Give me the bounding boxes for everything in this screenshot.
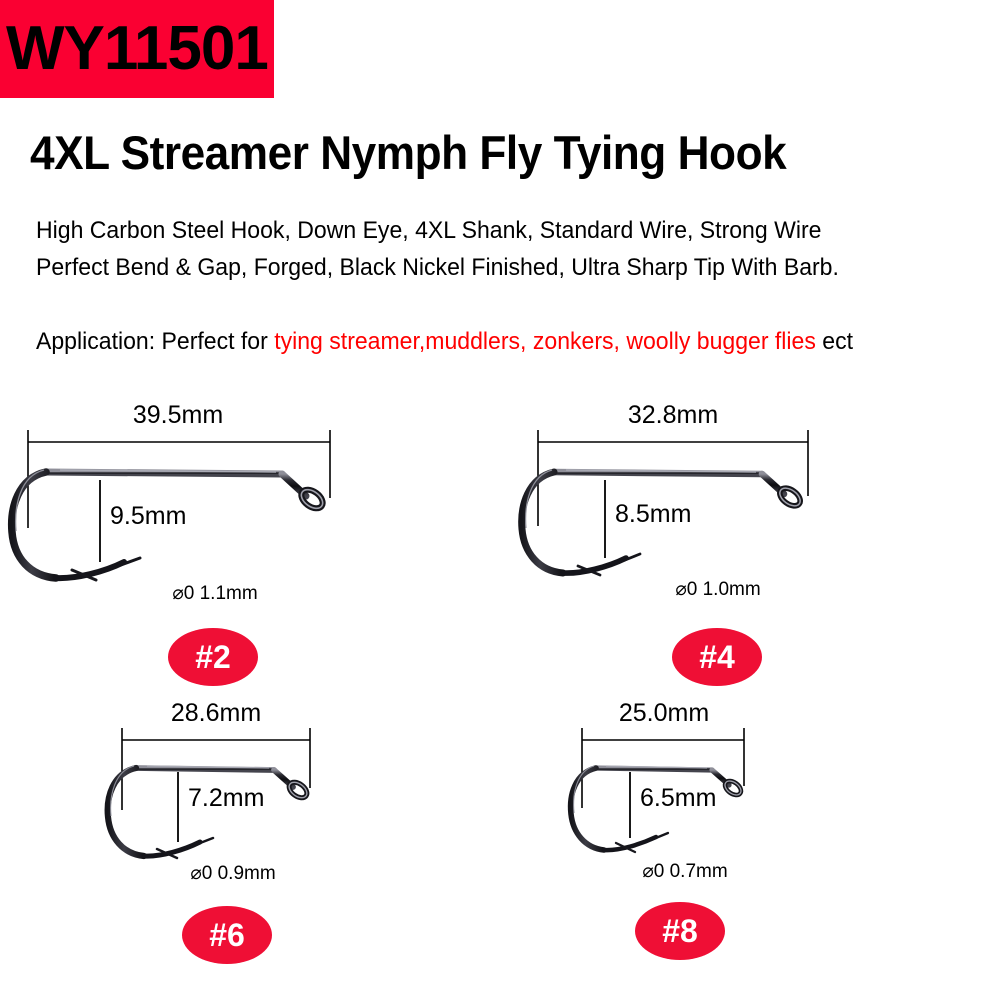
application-suffix: ect (816, 328, 853, 355)
size-badge-2: #6 (182, 906, 272, 964)
hook-diagram-1: 32.8mm 8.5mm ⌀0 1.0mm #4 (440, 400, 940, 700)
hook-diagram-2: 28.6mm 7.2mm ⌀0 0.9mm #6 (10, 690, 510, 990)
sku-badge: WY11501 (0, 0, 274, 98)
description-line-2: Perfect Bend & Gap, Forged, Black Nickel… (36, 249, 900, 286)
diameter-label-1: ⌀0 1.0mm (628, 578, 808, 602)
page-title: 4XL Streamer Nymph Fly Tying Hook (30, 125, 904, 181)
application-highlight: tying streamer,muddlers, zonkers, woolly… (274, 328, 816, 355)
application-note: Application: Perfect for tying streamer,… (36, 326, 919, 358)
hook-bend-2 (108, 768, 144, 856)
size-badge-3: #8 (635, 902, 725, 960)
gap-label-2: 7.2mm (188, 783, 264, 813)
hook-bend-1 (522, 472, 563, 573)
hook-point-0 (56, 562, 124, 578)
size-label-3: #8 (662, 915, 698, 947)
size-label-1: #4 (699, 641, 735, 673)
length-label-2: 28.6mm (126, 698, 306, 728)
hook-point-1 (563, 558, 626, 573)
hook-card-2: 28.6mm 7.2mm ⌀0 0.9mm #6 (10, 690, 510, 990)
hook-bend-0 (12, 472, 56, 578)
length-label-3: 25.0mm (584, 698, 744, 728)
product-infographic: WY11501 4XL Streamer Nymph Fly Tying Hoo… (0, 0, 1000, 1000)
diameter-label-0: ⌀0 1.1mm (125, 582, 305, 606)
size-badge-1: #4 (672, 628, 762, 686)
hook-bend-3 (571, 768, 604, 850)
hook-point-2 (144, 842, 200, 856)
product-description: High Carbon Steel Hook, Down Eye, 4XL Sh… (36, 212, 900, 286)
length-label-1: 32.8mm (553, 400, 793, 430)
length-label-0: 39.5mm (43, 400, 313, 430)
gap-label-1: 8.5mm (615, 499, 691, 529)
gap-label-3: 6.5mm (640, 783, 716, 813)
gap-label-0: 9.5mm (110, 501, 186, 531)
diameter-label-2: ⌀0 0.9mm (133, 862, 333, 886)
diameter-label-3: ⌀0 0.7mm (585, 860, 785, 884)
hook-diagram-0: 39.5mm 9.5mm ⌀0 1.1mm #2 (0, 400, 500, 700)
application-prefix: Application: Perfect for (36, 328, 274, 355)
size-badge-0: #2 (168, 628, 258, 686)
hook-card-3: 25.0mm 6.5mm ⌀0 0.7mm #8 (450, 690, 950, 990)
size-label-2: #6 (209, 919, 245, 951)
hook-point-3 (604, 837, 656, 850)
hook-diagram-3: 25.0mm 6.5mm ⌀0 0.7mm #8 (450, 690, 950, 990)
hook-card-0: 39.5mm 9.5mm ⌀0 1.1mm #2 (0, 400, 500, 700)
size-label-0: #2 (195, 641, 231, 673)
description-line-1: High Carbon Steel Hook, Down Eye, 4XL Sh… (36, 212, 900, 249)
sku-text: WY11501 (0, 18, 268, 80)
hook-size-grid: 39.5mm 9.5mm ⌀0 1.1mm #2 (0, 400, 1000, 1000)
hook-card-1: 32.8mm 8.5mm ⌀0 1.0mm #4 (440, 400, 940, 700)
